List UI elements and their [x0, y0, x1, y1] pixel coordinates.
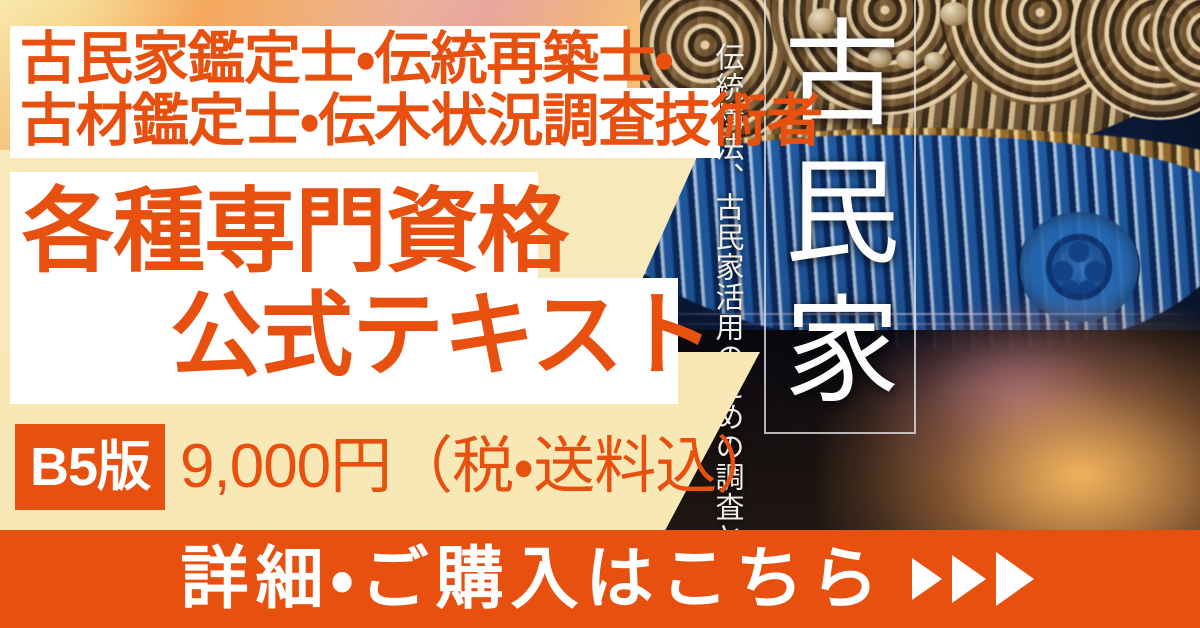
wood-bead	[924, 52, 944, 70]
cta-inner[interactable]: 詳細・ご購入はこちら	[0, 530, 1200, 628]
cta-bar[interactable]: 詳細・ご購入はこちら	[0, 530, 1200, 628]
promo-banner: 古民 家 伝統構法、古民家活用のための調査と再生の 古民家鑑定士・伝統再築士・ …	[0, 0, 1200, 628]
triangle-right-icon	[952, 555, 986, 603]
triangle-right-icon	[996, 552, 1034, 606]
subhead-line-1: 各種専門資格	[22, 184, 568, 280]
price-label: 9,000円（税・送料込）	[180, 430, 777, 504]
cover-title: 古民 家	[780, 8, 904, 422]
headline-line-2: 古材鑑定士・伝木状況調査技術者	[20, 91, 822, 151]
cta-arrow-group	[912, 552, 1034, 606]
format-badge-label: B5版	[30, 440, 150, 494]
triangle-right-icon	[912, 558, 942, 600]
cta-label: 詳細・ご購入はこちら	[166, 545, 885, 613]
format-badge: B5版	[15, 424, 165, 510]
wood-bead	[940, 2, 968, 26]
headline-line-1: 古民家鑑定士・伝統再築士・	[20, 29, 673, 89]
subhead-line-2: 公式テキスト	[170, 288, 713, 384]
